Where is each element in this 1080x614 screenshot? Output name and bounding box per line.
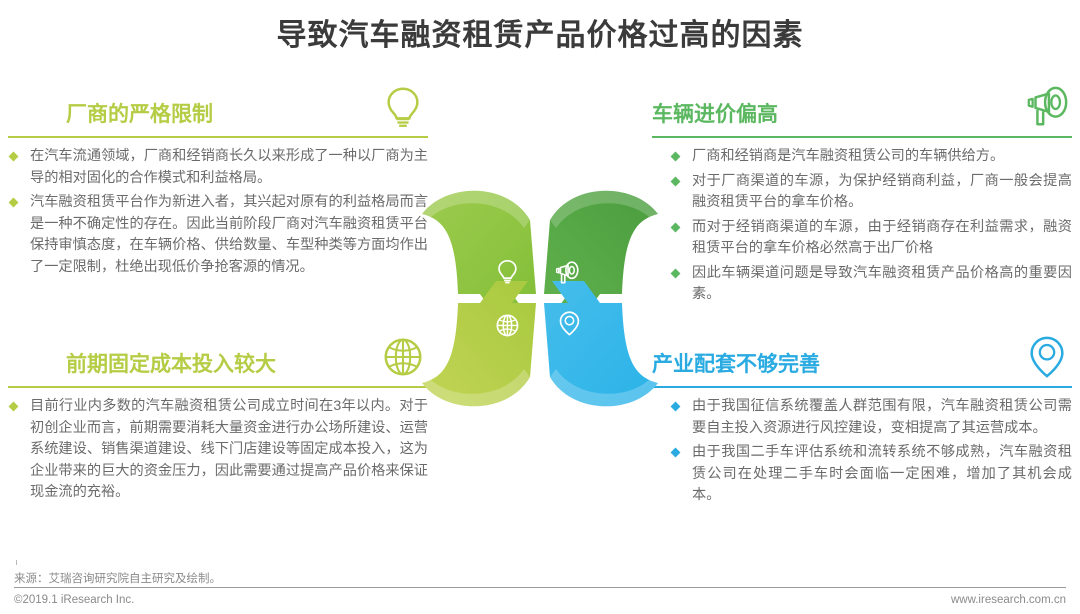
list-item: 因此车辆渠道问题是导致汽车融资租赁产品价格高的重要因素。 <box>670 263 1072 306</box>
panel-header: 产业配套不够完善 <box>652 334 1072 386</box>
panel-heading: 前期固定成本投入较大 <box>66 352 276 378</box>
panel-divider <box>8 136 428 138</box>
list-item: 对于厂商渠道的车源，为保护经销商利益，厂商一般会提高融资租赁平台的拿车价格。 <box>670 171 1072 214</box>
list-item: 汽车融资租赁平台作为新进入者，其兴起对原有的利益格局而言是一种不确定性的存在。因… <box>8 192 428 278</box>
panel-manufacturer-restrictions: 厂商的严格限制 在汽车流通领域，厂商和经销商长久以来形成了一种以厂商为主导的相对… <box>8 84 428 281</box>
website-url[interactable]: www.iresearch.com.cn <box>951 594 1066 606</box>
diamond-bullet-icon <box>9 198 19 208</box>
panel-header: 前期固定成本投入较大 <box>8 334 428 386</box>
list-item-text: 对于厂商渠道的车源，为保护经销商利益，厂商一般会提高融资租赁平台的拿车价格。 <box>692 173 1072 211</box>
list-item-text: 因此车辆渠道问题是导致汽车融资租赁产品价格高的重要因素。 <box>692 265 1072 303</box>
pinwheel-arrow-bottom-right <box>544 281 658 406</box>
diamond-bullet-icon <box>9 152 19 162</box>
megaphone-icon <box>1024 84 1070 130</box>
diamond-bullet-icon <box>671 448 681 458</box>
list-item-text: 由于我国征信系统覆盖人群范围有限，汽车融资租赁公司需要自主投入资源进行风控建设，… <box>692 398 1072 436</box>
pinwheel-arrow-top-left <box>422 191 536 316</box>
bullet-list: 在汽车流通领域，厂商和经销商长久以来形成了一种以厂商为主导的相对固化的合作模式和… <box>8 146 428 278</box>
list-item-text: 而对于经销商渠道的车源，由于经销商存在利益需求，融资租赁平台的拿车价格必然高于出… <box>692 219 1072 257</box>
diamond-bullet-icon <box>671 152 681 162</box>
panel-vehicle-purchase-price: 车辆进价偏高 厂商和经销商是汽车融资租赁公司的车辆供给方。 对于厂商渠道的车源，… <box>652 84 1072 309</box>
center-pinwheel-graphic <box>404 176 676 421</box>
bullet-list: 由于我国征信系统覆盖人群范围有限，汽车融资租赁公司需要自主投入资源进行风控建设，… <box>670 396 1072 507</box>
panel-fixed-cost-investment: 前期固定成本投入较大 目前行业内多数的汽车融资租赁公司成立时间在3年以内。对于初… <box>8 334 428 507</box>
panel-heading: 车辆进价偏高 <box>652 102 778 128</box>
location-pin-icon <box>1024 334 1070 380</box>
copyright-text: ©2019.1 iResearch Inc. <box>14 594 134 606</box>
bullet-list: 厂商和经销商是汽车融资租赁公司的车辆供给方。 对于厂商渠道的车源，为保护经销商利… <box>670 146 1072 306</box>
list-item-text: 目前行业内多数的汽车融资租赁公司成立时间在3年以内。对于初创企业而言，前期需要消… <box>30 398 428 500</box>
list-item: 厂商和经销商是汽车融资租赁公司的车辆供给方。 <box>670 146 1072 168</box>
diamond-bullet-icon <box>9 402 19 412</box>
panel-industry-support: 产业配套不够完善 由于我国征信系统覆盖人群范围有限，汽车融资租赁公司需要自主投入… <box>652 334 1072 510</box>
list-item-text: 厂商和经销商是汽车融资租赁公司的车辆供给方。 <box>692 148 1004 164</box>
pinwheel-icon-globe <box>497 315 517 335</box>
list-item: 而对于经销商渠道的车源，由于经销商存在利益需求，融资租赁平台的拿车价格必然高于出… <box>670 217 1072 260</box>
list-item: 由于我国二手车评估系统和流转系统不够成熟，汽车融资租赁公司在处理二手车时会面临一… <box>670 442 1072 507</box>
panel-header: 车辆进价偏高 <box>652 84 1072 136</box>
lightbulb-icon <box>380 84 426 130</box>
infographic-slide: 导致汽车融资租赁产品价格过高的因素 厂商的严格限制 在汽车流通领域，厂商和经销商… <box>0 0 1080 614</box>
list-item: 由于我国征信系统覆盖人群范围有限，汽车融资租赁公司需要自主投入资源进行风控建设，… <box>670 396 1072 439</box>
source-note: 来源：艾瑞咨询研究院自主研究及绘制。 <box>14 570 221 586</box>
panel-heading: 厂商的严格限制 <box>66 102 213 128</box>
footer-divider <box>14 587 1066 588</box>
list-item: 在汽车流通领域，厂商和经销商长久以来形成了一种以厂商为主导的相对固化的合作模式和… <box>8 146 428 189</box>
list-item-text: 汽车融资租赁平台作为新进入者，其兴起对原有的利益格局而言是一种不确定性的存在。因… <box>30 194 428 275</box>
panel-header: 厂商的严格限制 <box>8 84 428 136</box>
bullet-list: 目前行业内多数的汽车融资租赁公司成立时间在3年以内。对于初创企业而言，前期需要消… <box>8 396 428 504</box>
pinwheel-arrow-bottom-left <box>422 281 536 406</box>
panel-divider <box>652 386 1072 388</box>
list-item-text: 由于我国二手车评估系统和流转系统不够成熟，汽车融资租赁公司在处理二手车时会面临一… <box>692 444 1072 503</box>
pinwheel-arrow-top-right <box>544 191 658 316</box>
page-title: 导致汽车融资租赁产品价格过高的因素 <box>0 14 1080 58</box>
list-item: 目前行业内多数的汽车融资租赁公司成立时间在3年以内。对于初创企业而言，前期需要消… <box>8 396 428 504</box>
panel-divider <box>8 386 428 388</box>
panel-divider <box>652 136 1072 138</box>
panel-heading: 产业配套不够完善 <box>652 352 820 378</box>
footer-tick-mark <box>16 560 17 565</box>
list-item-text: 在汽车流通领域，厂商和经销商长久以来形成了一种以厂商为主导的相对固化的合作模式和… <box>30 148 428 186</box>
